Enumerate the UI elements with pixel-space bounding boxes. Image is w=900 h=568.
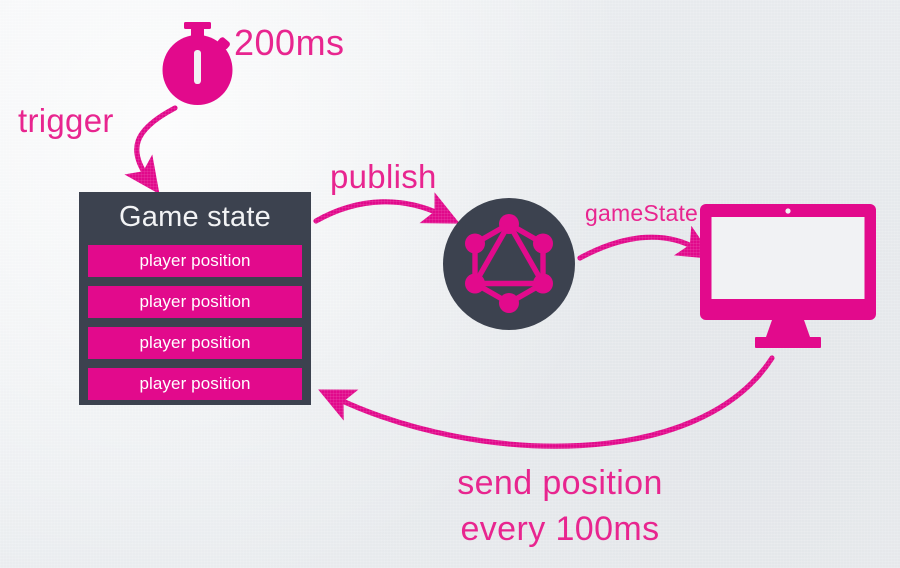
- edge-label-publish: publish: [330, 158, 437, 196]
- arrow-send-position: [336, 358, 772, 446]
- graphql-node: [443, 198, 575, 330]
- stopwatch-icon: [162, 22, 238, 108]
- game-state-title: Game state: [88, 198, 302, 236]
- graphql-logo-icon: [443, 198, 575, 330]
- player-position-row: player position: [88, 327, 302, 359]
- player-position-row: player position: [88, 368, 302, 400]
- arrow-trigger: [137, 108, 175, 178]
- stopwatch-caption: 200ms: [234, 22, 345, 64]
- arrow-gamestate: [580, 237, 697, 258]
- edge-label-trigger: trigger: [18, 102, 114, 140]
- edge-label-send-position: send position every 100ms: [400, 460, 720, 552]
- edge-label-gamestate: gameState: [585, 200, 698, 227]
- monitor-icon: [700, 204, 876, 350]
- arrow-publish: [316, 202, 442, 221]
- game-state-panel: Game state player position player positi…: [79, 192, 311, 405]
- player-position-row: player position: [88, 286, 302, 318]
- player-position-row: player position: [88, 245, 302, 277]
- edge-label-send-position-line2: every 100ms: [400, 506, 720, 552]
- edge-label-send-position-line1: send position: [400, 460, 720, 506]
- diagram-canvas: Game state player position player positi…: [0, 0, 900, 568]
